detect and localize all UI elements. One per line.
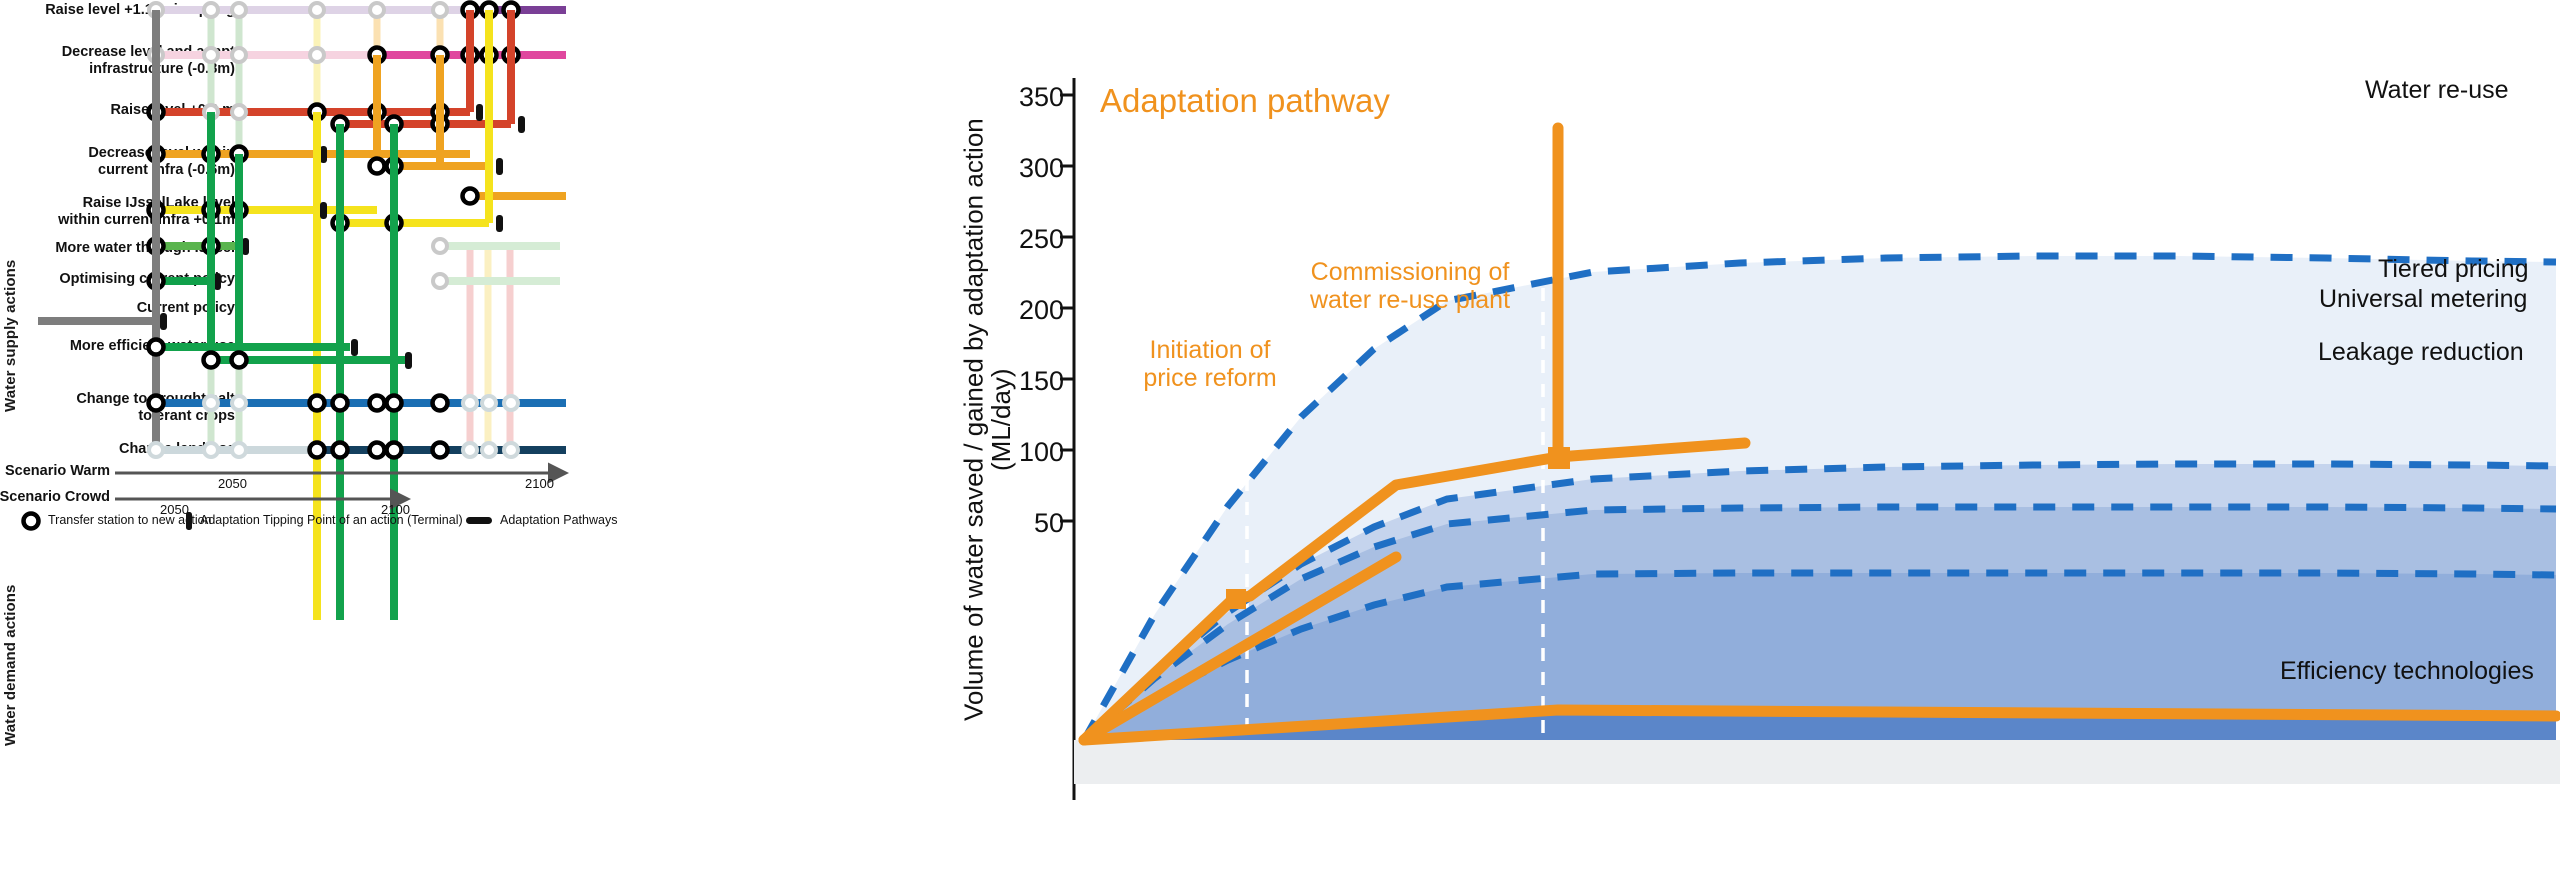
pathway-optimising-current <box>149 273 448 290</box>
scenario-label-warm: Scenario Warm <box>0 463 110 479</box>
marker-reuse-plant <box>1548 447 1570 469</box>
annotation-commissioning-reuse-plant: Commissioning of water re-use plant <box>1260 258 1560 314</box>
adaptation-pathways-map: Water supply actions Water demand action… <box>0 0 960 874</box>
axes <box>1060 78 1074 800</box>
annotation-initiation-price-reform: Initiation of price reform <box>1100 336 1320 392</box>
legend-label: Transfer station to new action <box>48 513 212 527</box>
legend-label: Adaptation Tipping Point of an action (T… <box>200 513 463 527</box>
pathway-raise-ijssellake <box>149 10 504 620</box>
marker-price-reform <box>1226 589 1246 609</box>
series-label-universal-metering: Universal metering <box>2319 285 2527 314</box>
x-axis-band <box>1074 740 2560 784</box>
pathway-current-policy <box>38 10 167 450</box>
legend-transfer-station: Transfer station to new action <box>48 513 212 527</box>
legend-label: Adaptation Pathways <box>500 513 617 527</box>
scenario-warm-tick-2050: 2050 <box>218 476 247 491</box>
area-chart-svg <box>960 0 2560 874</box>
thick-line-icon <box>466 517 492 524</box>
adaptation-pathway-area-chart: Volume of water saved / gained by adapta… <box>960 0 2560 874</box>
pathway-more-efficient-water <box>149 112 413 620</box>
pathway-raise-level-0-6 <box>149 10 526 133</box>
pathway-change-land-use <box>149 443 566 458</box>
series-label-water-re-use: Water re-use <box>2365 76 2509 105</box>
series-label-tiered-pricing: Tiered pricing <box>2378 255 2529 284</box>
series-label-leakage-reduction: Leakage reduction <box>2318 338 2524 367</box>
pathway-more-water-ijssel <box>149 238 448 255</box>
pathway-drought-salt-crops <box>149 396 567 411</box>
pathway-network <box>0 0 960 874</box>
scenario-label-crowd: Scenario Crowd <box>0 489 110 505</box>
legend-tipping-point: Adaptation Tipping Point of an action (T… <box>200 513 463 527</box>
series-label-efficiency-technologies: Efficiency technologies <box>2280 657 2534 686</box>
scenario-warm-tick-2100: 2100 <box>525 476 554 491</box>
figure-root: Water supply actions Water demand action… <box>0 0 2560 874</box>
circle-marker-icon <box>24 514 39 529</box>
legend-adaptation-pathways: Adaptation Pathways <box>500 513 617 527</box>
